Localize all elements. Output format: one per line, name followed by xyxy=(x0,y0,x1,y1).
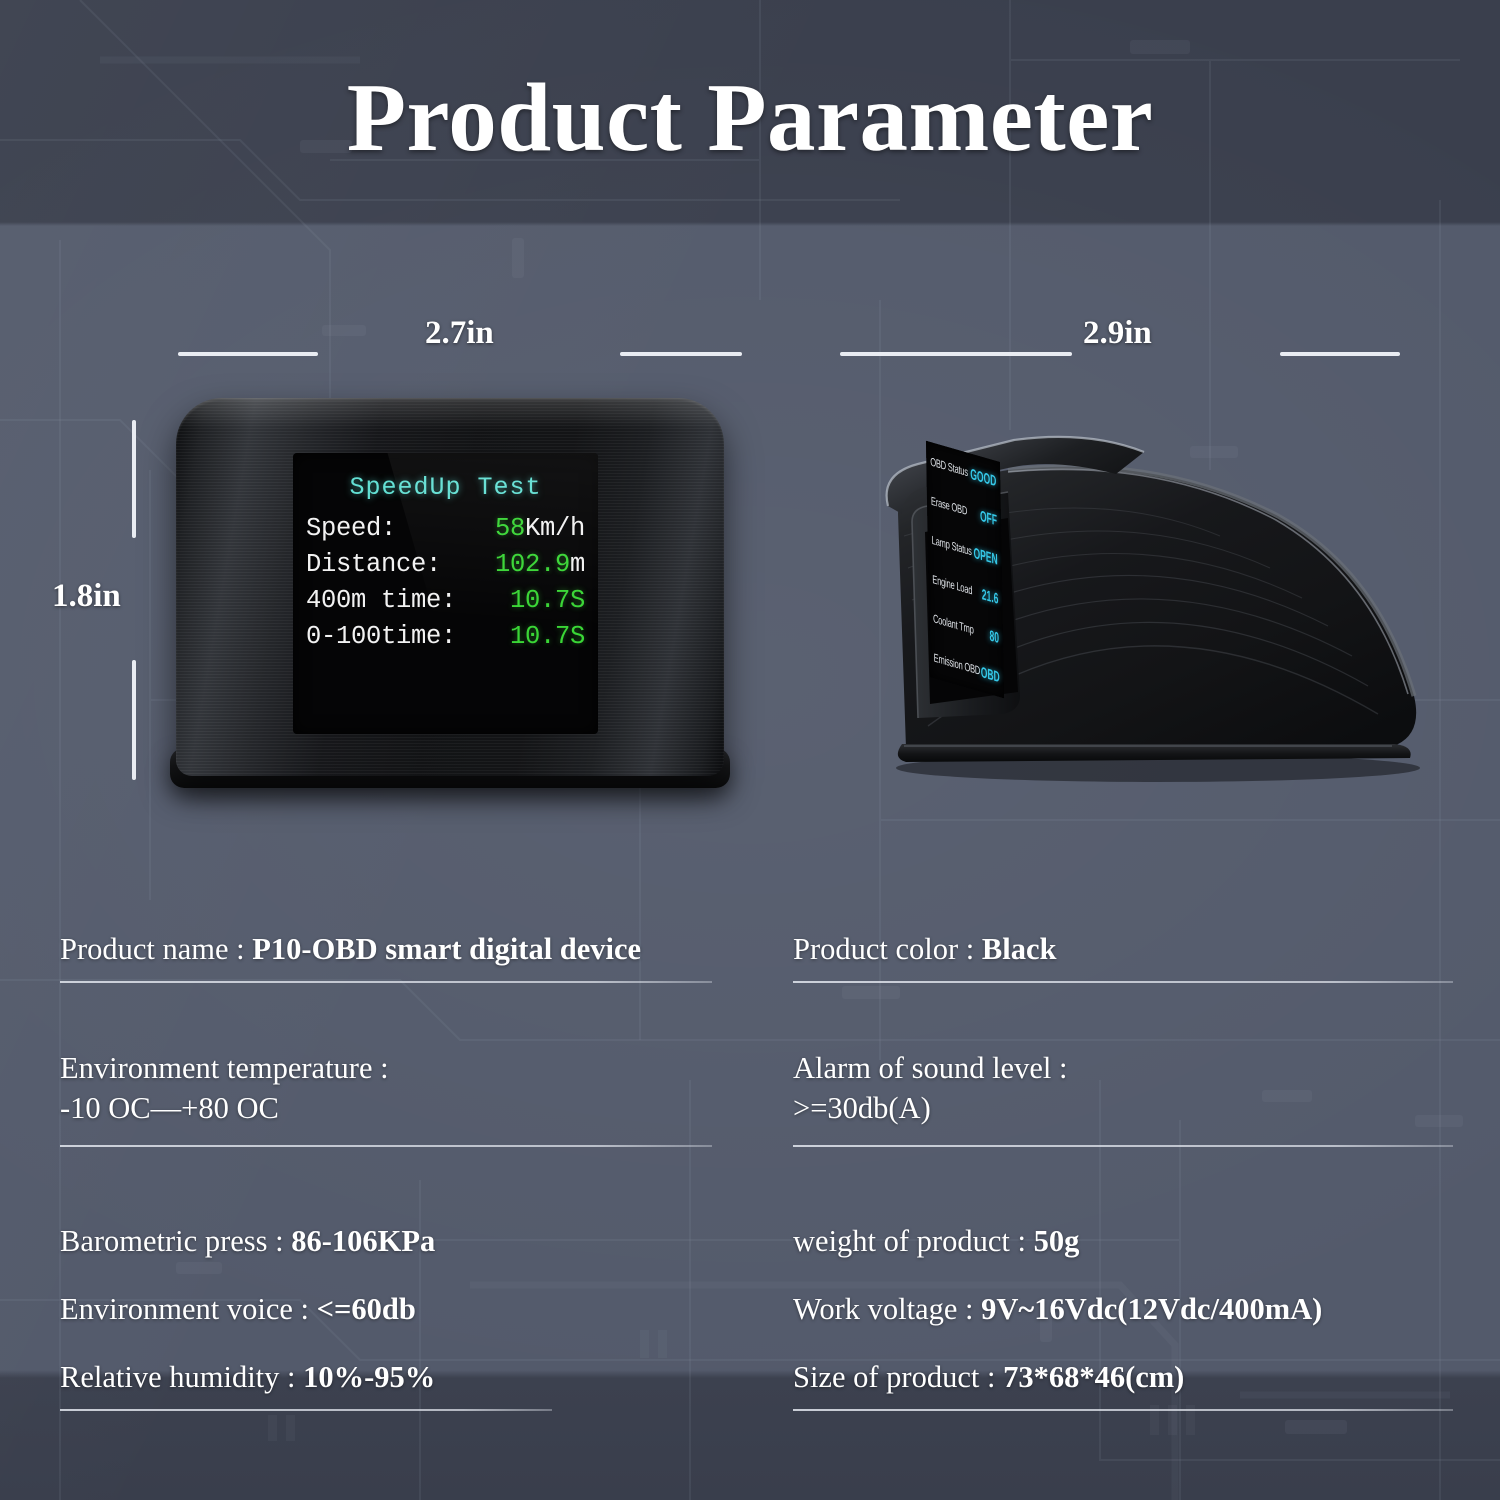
screen-row-distance: Distance: 102.9m xyxy=(306,547,585,583)
dimension-line-front-height-top xyxy=(132,420,136,538)
spec-row-weight-of-product: weight of product : 50g xyxy=(793,1221,1453,1261)
screen-row-value: 10.7S xyxy=(510,619,585,655)
spec-row-relative-humidity: Relative humidity : 10%-95% xyxy=(60,1357,712,1397)
spec-line: Barometric press : 86-106KPa xyxy=(60,1221,712,1261)
spec-line: weight of product : 50g xyxy=(793,1221,1453,1261)
side-row-value: 21.6 xyxy=(982,585,999,607)
spec-line: Relative humidity : 10%-95% xyxy=(60,1357,712,1397)
screen-row-number: 10.7S xyxy=(510,622,585,651)
spec-label: Work voltage : xyxy=(793,1292,974,1326)
screen-row-label: 0-100time: xyxy=(306,619,456,655)
spec-value: Black xyxy=(982,932,1057,966)
spec-row-alarm-of-sound-level: Alarm of sound level : >=30db(A) xyxy=(793,1048,1453,1129)
spec-value: 73*68*46(cm) xyxy=(1003,1360,1184,1394)
spec-label: Alarm of sound level : xyxy=(793,1048,1453,1088)
spec-line: Environment voice : <=60db xyxy=(60,1289,712,1329)
spec-line: Work voltage : 9V~16Vdc(12Vdc/400mA) xyxy=(793,1289,1453,1329)
side-row-value: GOOD xyxy=(970,464,996,489)
spec-row-work-voltage: Work voltage : 9V~16Vdc(12Vdc/400mA) xyxy=(793,1289,1453,1329)
spec-row-barometric-press: Barometric press : 86-106KPa xyxy=(60,1221,712,1261)
dimension-line-front-width-right xyxy=(620,352,742,356)
spec-separator xyxy=(60,1409,552,1411)
device-side-view: OBD Status GOOD Erase OBD OFF Lamp Statu… xyxy=(858,396,1428,778)
side-display-screen: OBD Status GOOD Erase OBD OFF Lamp Statu… xyxy=(926,441,1004,699)
spec-line: Size of product : 73*68*46(cm) xyxy=(793,1357,1453,1397)
side-row-value: OPEN xyxy=(973,543,997,568)
screen-row-label: Distance: xyxy=(306,547,441,583)
spec-label: Relative humidity : xyxy=(60,1360,296,1394)
dimension-line-front-width-left xyxy=(178,352,318,356)
spec-row-product-color: Product color : Black xyxy=(793,929,1453,969)
front-display-screen: SpeedUp Test Speed: 58Km/h Distance: 102… xyxy=(293,453,598,734)
screen-row-label: 400m time: xyxy=(306,583,456,619)
screen-row-number: 102.9 xyxy=(495,550,570,579)
screen-row-value: 102.9m xyxy=(495,547,585,583)
spec-line: Product name : P10-OBD smart digital dev… xyxy=(60,929,712,969)
product-parameter-page: Product Parameter 2.7in 2.9in 1.8in Spee… xyxy=(0,0,1500,1500)
screen-row-unit: Km/h xyxy=(525,514,585,543)
side-row-value: OFF xyxy=(980,506,997,528)
screen-title: SpeedUp Test xyxy=(293,473,598,502)
side-row-label: Lamp Status xyxy=(932,533,972,559)
spec-separator xyxy=(60,981,712,983)
spec-row-environment-temperature: Environment temperature : -10 OC—+80 OC xyxy=(60,1048,712,1129)
spec-value: 9V~16Vdc(12Vdc/400mA) xyxy=(981,1292,1322,1326)
screen-row-number: 10.7S xyxy=(510,586,585,615)
spec-separator xyxy=(793,1409,1453,1411)
screen-row-400m-time: 400m time: 10.7S xyxy=(306,583,585,619)
page-title: Product Parameter xyxy=(0,62,1500,173)
side-row-label: Coolant Tmp xyxy=(933,611,974,637)
screen-row-label: Speed: xyxy=(306,511,396,547)
spec-value: P10-OBD smart digital device xyxy=(252,932,641,966)
spec-value: 10%-95% xyxy=(303,1360,435,1394)
side-row-value: 80 xyxy=(989,626,999,646)
screen-readout-list: Speed: 58Km/h Distance: 102.9m 400m time… xyxy=(293,511,598,655)
dimension-line-side-width-left xyxy=(840,352,1072,356)
spec-label: Environment voice : xyxy=(60,1292,309,1326)
dimension-line-side-width-right xyxy=(1280,352,1400,356)
spec-separator xyxy=(793,1145,1453,1147)
side-row-label: Engine Load xyxy=(932,572,972,598)
spec-separator xyxy=(60,1145,712,1147)
side-row-label: Emission OBD xyxy=(934,650,981,677)
spec-row-size-of-product: Size of product : 73*68*46(cm) xyxy=(793,1357,1453,1397)
spec-label: Barometric press : xyxy=(60,1224,284,1258)
device-front-view: SpeedUp Test Speed: 58Km/h Distance: 102… xyxy=(176,398,724,776)
spec-value: <=60db xyxy=(317,1292,416,1326)
side-row-label: Erase OBD xyxy=(931,494,967,518)
device-top-rim-highlight xyxy=(176,398,724,434)
spec-label: Environment temperature : xyxy=(60,1048,712,1088)
screen-row-unit: m xyxy=(570,550,585,579)
side-row-label: OBD Status xyxy=(930,454,968,479)
spec-label: weight of product : xyxy=(793,1224,1026,1258)
screen-row-0-100-time: 0-100time: 10.7S xyxy=(306,619,585,655)
spec-label: Product color : xyxy=(793,932,974,966)
screen-row-value: 58Km/h xyxy=(495,511,585,547)
dimension-label-side-width: 2.9in xyxy=(1083,315,1152,352)
dimension-label-front-height: 1.8in xyxy=(52,578,121,615)
dimension-line-front-height-bottom xyxy=(132,660,136,780)
spec-line: Product color : Black xyxy=(793,929,1453,969)
spec-value: 50g xyxy=(1034,1224,1080,1258)
spec-value: >=30db(A) xyxy=(793,1088,1453,1128)
device-front-body: SpeedUp Test Speed: 58Km/h Distance: 102… xyxy=(176,398,724,776)
side-row-value: OBD xyxy=(981,662,1000,685)
screen-row-value: 10.7S xyxy=(510,583,585,619)
spec-separator xyxy=(793,981,1453,983)
spec-label: Product name : xyxy=(60,932,245,966)
screen-row-speed: Speed: 58Km/h xyxy=(306,511,585,547)
screen-row-number: 58 xyxy=(495,514,525,543)
spec-row-product-name: Product name : P10-OBD smart digital dev… xyxy=(60,929,712,969)
dimension-label-front-width: 2.7in xyxy=(425,315,494,352)
spec-label: Size of product : xyxy=(793,1360,995,1394)
spec-value: -10 OC—+80 OC xyxy=(60,1088,712,1128)
spec-value: 86-106KPa xyxy=(291,1224,435,1258)
spec-row-environment-voice: Environment voice : <=60db xyxy=(60,1289,712,1329)
